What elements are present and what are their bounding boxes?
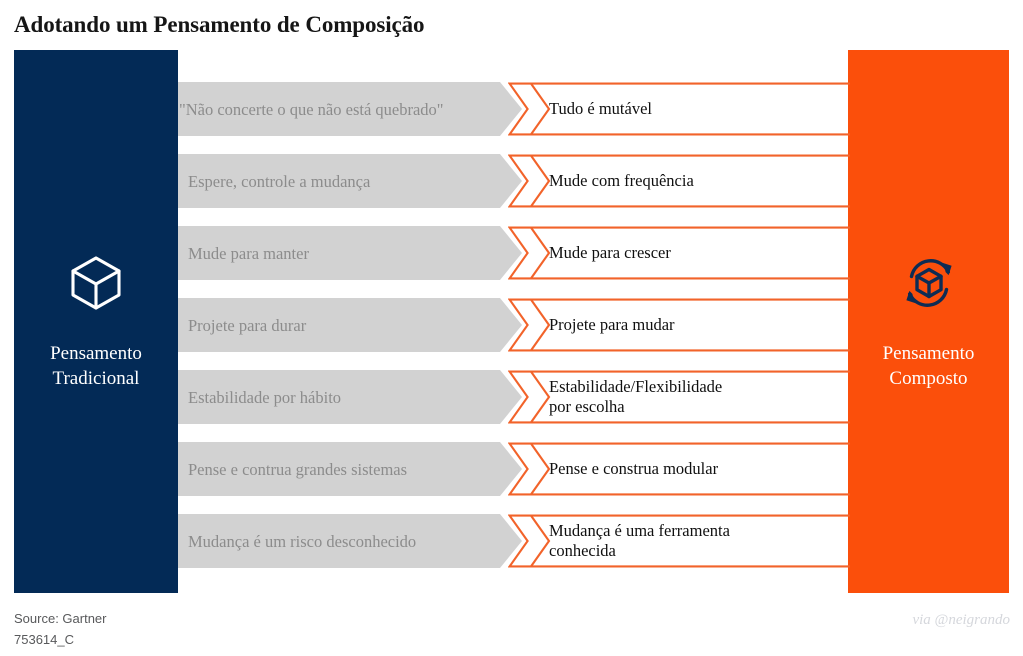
traditional-chevron: "Não concerte o que não está quebrado" xyxy=(178,82,522,136)
composable-label-line1: Pense e construa modular xyxy=(549,459,718,478)
composable-label: Mude para crescer xyxy=(508,243,679,263)
traditional-chevron: Mude para manter xyxy=(178,226,522,280)
traditional-chevron: Estabilidade por hábito xyxy=(178,370,522,424)
composable-chevron: Projete para mudar xyxy=(508,298,850,352)
panel-traditional-label-line2: Tradicional xyxy=(50,366,142,391)
footer-source: Source: Gartner 753614_C xyxy=(14,608,107,650)
panel-composable-label-line1: Pensamento xyxy=(883,341,975,366)
cube-refresh-cycle-icon xyxy=(898,252,960,319)
traditional-label: Mudança é um risco desconhecido xyxy=(178,531,440,552)
composable-label: Tudo é mutável xyxy=(508,99,660,119)
comparison-row: Espere, controle a mudança Mude com freq… xyxy=(178,154,850,208)
panel-traditional-label-line1: Pensamento xyxy=(50,341,142,366)
traditional-label: "Não concerte o que não está quebrado" xyxy=(178,99,468,120)
composable-label-line1: Mude para crescer xyxy=(549,243,671,262)
composable-label-line1: Mudança é uma ferramenta xyxy=(549,521,730,540)
panel-composable-thinking: Pensamento Composto xyxy=(848,50,1009,593)
traditional-label: Mude para manter xyxy=(178,243,333,264)
composable-chevron: Tudo é mutável xyxy=(508,82,850,136)
source-code: 753614_C xyxy=(14,629,107,650)
comparison-row: Mudança é um risco desconhecido Mudança … xyxy=(178,514,850,568)
panel-traditional-thinking: Pensamento Tradicional xyxy=(14,50,178,593)
panel-composable-label-line2: Composto xyxy=(883,366,975,391)
composable-chevron: Mude com frequência xyxy=(508,154,850,208)
traditional-label: Espere, controle a mudança xyxy=(178,171,394,192)
composable-chevron: Estabilidade/Flexibilidade por escolha xyxy=(508,370,850,424)
composable-label: Estabilidade/Flexibilidade por escolha xyxy=(508,377,730,417)
traditional-label: Estabilidade por hábito xyxy=(178,387,365,408)
composable-chevron: Pense e construa modular xyxy=(508,442,850,496)
comparison-row: Projete para durar Projete para mudar xyxy=(178,298,850,352)
composable-label: Mude com frequência xyxy=(508,171,702,191)
traditional-label: Projete para durar xyxy=(178,315,330,336)
comparison-row: Estabilidade por hábito Estabilidade/Fle… xyxy=(178,370,850,424)
panel-traditional-label: Pensamento Tradicional xyxy=(44,341,148,391)
composable-chevron: Mude para crescer xyxy=(508,226,850,280)
composable-label-line1: Tudo é mutável xyxy=(549,99,652,118)
traditional-chevron: Pense e contrua grandes sistemas xyxy=(178,442,522,496)
comparison-row: Mude para manter Mude para crescer xyxy=(178,226,850,280)
panel-composable-label: Pensamento Composto xyxy=(877,341,981,391)
comparison-rows: "Não concerte o que não está quebrado" T… xyxy=(178,82,850,592)
composable-label-line1: Estabilidade/Flexibilidade xyxy=(549,377,722,396)
page-title: Adotando um Pensamento de Composição xyxy=(14,10,424,40)
attribution-label: via @neigrando xyxy=(860,612,1010,629)
comparison-row: "Não concerte o que não está quebrado" T… xyxy=(178,82,850,136)
composable-label: Projete para mudar xyxy=(508,315,683,335)
source-label: Source: Gartner xyxy=(14,611,107,626)
composable-label: Mudança é uma ferramenta conhecida xyxy=(508,521,738,561)
cube-outline-icon xyxy=(65,252,127,319)
traditional-chevron: Mudança é um risco desconhecido xyxy=(178,514,522,568)
traditional-label: Pense e contrua grandes sistemas xyxy=(178,459,431,480)
traditional-chevron: Projete para durar xyxy=(178,298,522,352)
comparison-row: Pense e contrua grandes sistemas Pense e… xyxy=(178,442,850,496)
composable-label-line1: Projete para mudar xyxy=(549,315,675,334)
composable-chevron: Mudança é uma ferramenta conhecida xyxy=(508,514,850,568)
composable-label: Pense e construa modular xyxy=(508,459,726,479)
composable-label-line2: por escolha xyxy=(549,397,625,416)
composable-label-line1: Mude com frequência xyxy=(549,171,694,190)
traditional-chevron: Espere, controle a mudança xyxy=(178,154,522,208)
composable-label-line2: conhecida xyxy=(549,541,616,560)
